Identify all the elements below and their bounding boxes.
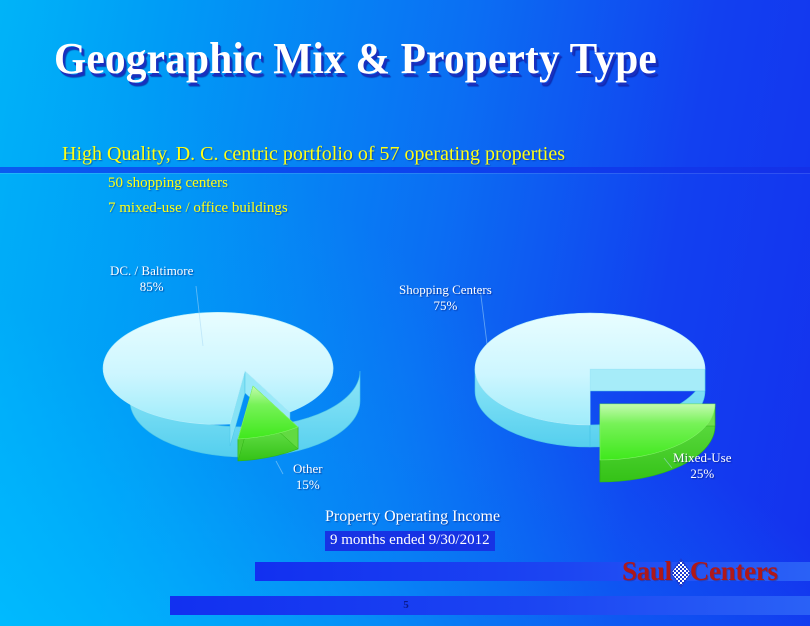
bullet-item-2: 7 mixed-use / office buildings bbox=[108, 200, 288, 217]
pie-major-cut-r-right bbox=[590, 369, 705, 391]
saul-centers-logo: Saul Centers bbox=[622, 556, 778, 587]
header-divider bbox=[0, 167, 810, 173]
bullet-item-1: 50 shopping centers bbox=[108, 175, 228, 192]
pie-label-other-pct: 15% bbox=[293, 477, 323, 493]
logo-text-centers: Centers bbox=[690, 556, 778, 587]
decorative-bar-lower bbox=[170, 596, 810, 615]
page-title: Geographic Mix & Property Type bbox=[54, 33, 657, 84]
pie-label-shopping-centers: Shopping Centers 75% bbox=[399, 282, 492, 315]
pie-label-other-name: Other bbox=[293, 461, 323, 476]
pie-label-shopping-centers-name: Shopping Centers bbox=[399, 282, 492, 297]
pie-label-dc-baltimore-name: DC. / Baltimore bbox=[110, 263, 193, 278]
pie-label-mixed-use-name: Mixed-Use bbox=[673, 450, 732, 465]
pie-label-mixed-use: Mixed-Use 25% bbox=[673, 450, 732, 483]
pie-label-mixed-use-pct: 25% bbox=[673, 466, 732, 482]
footer-caption-period: 9 months ended 9/30/2012 bbox=[325, 531, 495, 551]
pie-label-other: Other 15% bbox=[293, 461, 323, 494]
pie-major-top bbox=[103, 312, 333, 424]
headline-text: High Quality, D. C. centric portfolio of… bbox=[62, 143, 565, 166]
pie-label-dc-baltimore: DC. / Baltimore 85% bbox=[110, 263, 193, 296]
page-number: 5 bbox=[396, 599, 416, 611]
slide-canvas: Geographic Mix & Property Type High Qual… bbox=[0, 0, 810, 626]
leader-line-minor-left bbox=[276, 461, 283, 474]
footer-caption-title: Property Operating Income bbox=[325, 508, 500, 526]
logo-text-saul: Saul bbox=[622, 556, 672, 587]
diamond-check-icon bbox=[670, 558, 692, 588]
pie-chart-geographic-mix bbox=[103, 286, 360, 474]
pie-label-dc-baltimore-pct: 85% bbox=[110, 279, 193, 295]
pie-label-shopping-centers-pct: 75% bbox=[399, 298, 492, 314]
